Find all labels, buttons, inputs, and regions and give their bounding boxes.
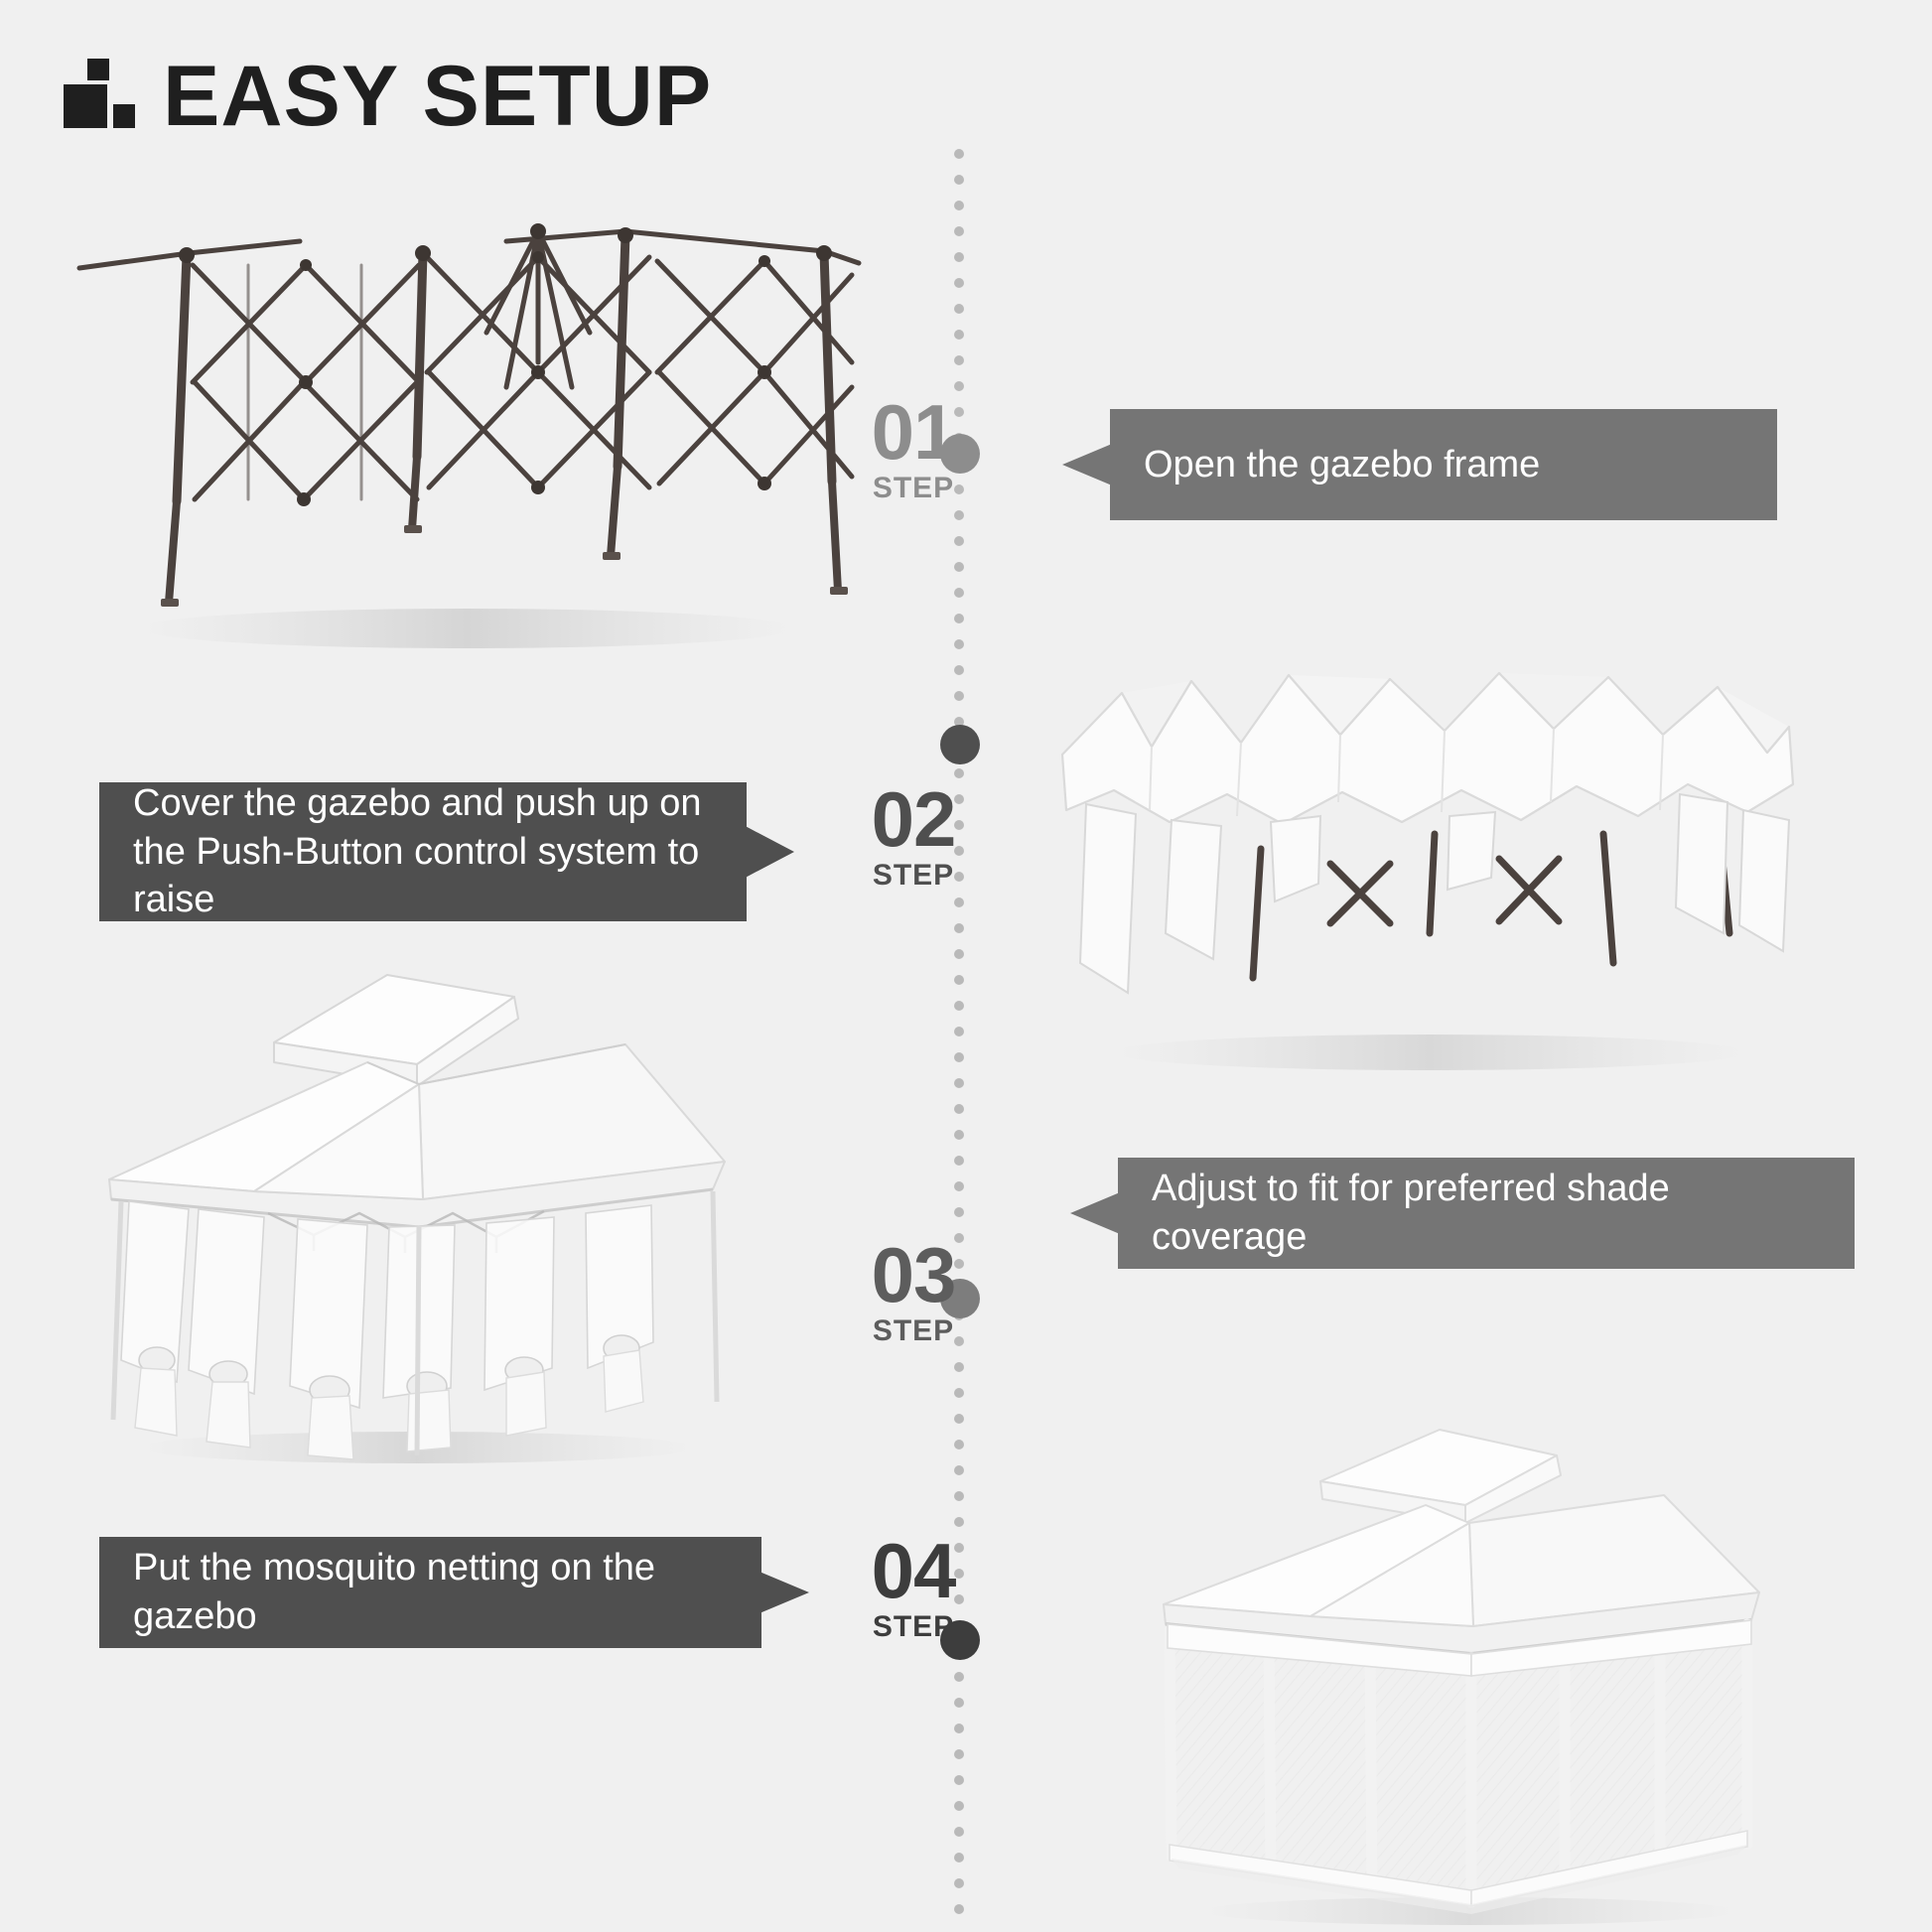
timeline-dot (954, 639, 964, 649)
timeline-dot (954, 1517, 964, 1527)
step-number-block-03: 03 STEP (824, 1238, 1003, 1348)
timeline-dot (954, 1130, 964, 1140)
timeline-dot (954, 1698, 964, 1708)
timeline-dot (954, 562, 964, 572)
timeline-dot (954, 768, 964, 778)
timeline-dot (954, 1181, 964, 1191)
timeline-dot (954, 1440, 964, 1449)
timeline-dot (954, 278, 964, 288)
page-title: EASY SETUP (163, 58, 712, 136)
gazebo-frame-photo (69, 213, 864, 670)
step-label-01: STEP (824, 472, 1003, 505)
gazebo-netting-photo (1112, 1410, 1807, 1926)
timeline-dot (954, 1724, 964, 1733)
logo-square-big (64, 84, 107, 128)
timeline-dot (954, 1207, 964, 1217)
step-number-01: 01 (824, 395, 1003, 470)
timeline-dot (954, 1749, 964, 1759)
step-number-03: 03 (824, 1238, 1003, 1312)
logo-square-top (87, 59, 109, 80)
page-header: EASY SETUP (64, 58, 712, 136)
timeline-dot (954, 1491, 964, 1501)
gazebo-cover-photo (1033, 635, 1817, 1082)
timeline-dot (954, 588, 964, 598)
timeline-dot (954, 1388, 964, 1398)
timeline-dot (954, 1775, 964, 1785)
gazebo-raised-photo (69, 953, 764, 1469)
timeline-dot (954, 149, 964, 159)
timeline-dot (954, 252, 964, 262)
timeline-dot (954, 510, 964, 520)
timeline-dot (954, 1362, 964, 1372)
step-callout-04: Put the mosquito netting on the gazebo (99, 1537, 809, 1648)
timeline-dot (954, 1853, 964, 1863)
step-callout-text-02: Cover the gazebo and push up on the Push… (133, 779, 713, 924)
step-callout-text-04: Put the mosquito netting on the gazebo (133, 1544, 728, 1640)
timeline-dot (954, 1104, 964, 1114)
timeline-dot (954, 226, 964, 236)
timeline-dot (954, 381, 964, 391)
timeline-dot (954, 1465, 964, 1475)
timeline-dot (954, 1078, 964, 1088)
timeline-marker-02 (940, 725, 980, 764)
timeline-dot (954, 1904, 964, 1914)
timeline-dot (954, 1801, 964, 1811)
timeline-dot (954, 175, 964, 185)
timeline-dot (954, 1414, 964, 1424)
timeline-dot (954, 201, 964, 210)
timeline-dot (954, 665, 964, 675)
step-number-block-02: 02 STEP (824, 782, 1003, 893)
timeline-dot (954, 897, 964, 907)
timeline-dot (954, 1052, 964, 1062)
step-number-block-04: 04 STEP (824, 1534, 1003, 1644)
timeline-dot (954, 1156, 964, 1166)
timeline-dot (954, 536, 964, 546)
timeline-dot (954, 975, 964, 985)
step-callout-text-01: Open the gazebo frame (1144, 441, 1540, 489)
step-number-block-01: 01 STEP (824, 395, 1003, 505)
three-squares-icon (64, 59, 141, 128)
timeline-dot (954, 1672, 964, 1682)
timeline-dot (954, 614, 964, 623)
timeline-dot (954, 923, 964, 933)
timeline-dot (954, 1001, 964, 1011)
timeline-dot (954, 355, 964, 365)
step-callout-text-03: Adjust to fit for preferred shade covera… (1152, 1165, 1821, 1261)
step-label-02: STEP (824, 859, 1003, 893)
timeline-dot (954, 949, 964, 959)
infographic-page: EASY SETUP (0, 0, 1932, 1932)
step-label-04: STEP (824, 1610, 1003, 1644)
logo-square-small (113, 104, 135, 128)
step-number-02: 02 (824, 782, 1003, 857)
step-callout-03: Adjust to fit for preferred shade covera… (1070, 1158, 1855, 1269)
timeline-dot (954, 304, 964, 314)
timeline-dot (954, 691, 964, 701)
step-callout-01: Open the gazebo frame (1062, 409, 1777, 520)
step-label-03: STEP (824, 1314, 1003, 1348)
timeline-dot (954, 1878, 964, 1888)
timeline-dot (954, 1027, 964, 1036)
timeline-dot (954, 330, 964, 340)
step-callout-02: Cover the gazebo and push up on the Push… (99, 782, 794, 921)
step-number-04: 04 (824, 1534, 1003, 1608)
timeline-dot (954, 1827, 964, 1837)
